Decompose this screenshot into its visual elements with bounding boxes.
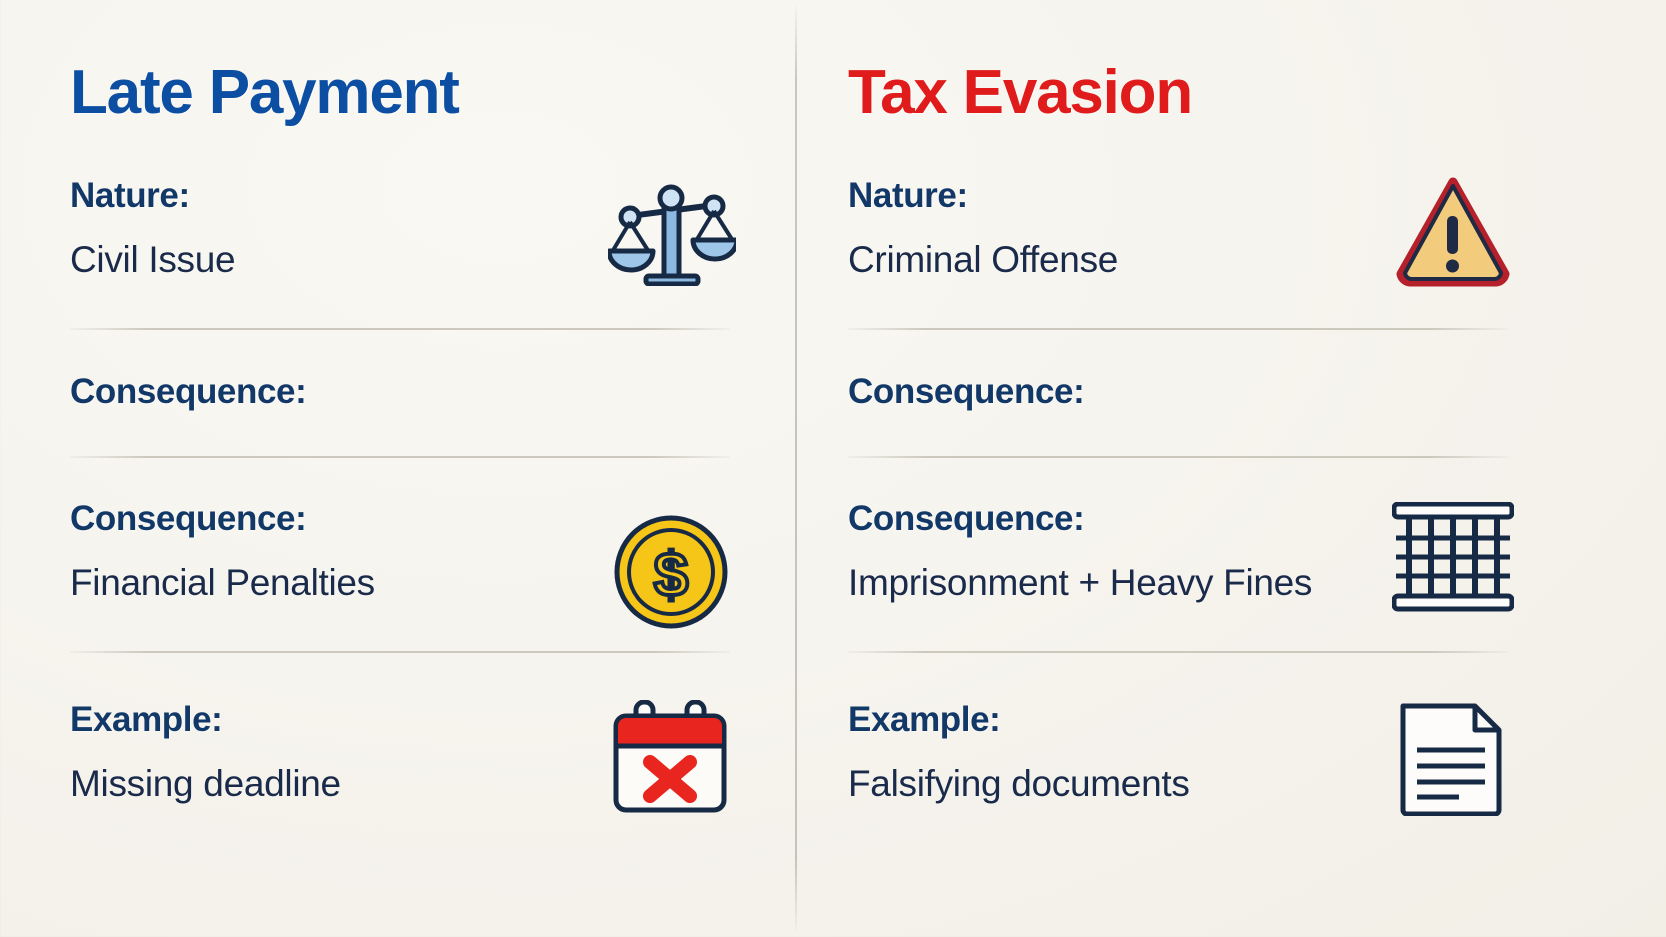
field-value-example-left: Missing deadline (70, 763, 341, 805)
field-value-consequence-right-2: Imprisonment + Heavy Fines (848, 562, 1312, 604)
field-value-nature-left: Civil Issue (70, 239, 235, 281)
row-divider-left-3 (70, 651, 730, 653)
field-label-consequence-left-1: Consequence: (70, 372, 306, 412)
field-label-example-left: Example: (70, 700, 222, 740)
row-divider-right-1 (848, 328, 1508, 330)
document-lines-icon (1397, 700, 1505, 816)
gold-coin-icon: $ (613, 514, 729, 630)
warning-triangle-icon (1395, 174, 1511, 288)
field-label-nature-left: Nature: (70, 176, 190, 216)
row-divider-right-3 (848, 651, 1508, 653)
field-label-consequence-right-1: Consequence: (848, 372, 1084, 412)
field-value-nature-right: Criminal Offense (848, 239, 1118, 281)
svg-text:$: $ (654, 541, 688, 610)
row-divider-left-2 (70, 456, 730, 458)
field-label-example-right: Example: (848, 700, 1000, 740)
field-label-nature-right: Nature: (848, 176, 968, 216)
field-label-consequence-right-2: Consequence: (848, 499, 1084, 539)
scales-icon (608, 178, 736, 286)
column-title-late-payment: Late Payment (70, 57, 459, 128)
field-label-consequence-left-2: Consequence: (70, 499, 306, 539)
infographic-canvas: Late Payment Nature: Civil Issue (0, 0, 1666, 937)
column-title-tax-evasion: Tax Evasion (848, 57, 1192, 128)
field-value-example-right: Falsifying documents (848, 763, 1190, 805)
row-divider-right-2 (848, 456, 1508, 458)
jail-bars-icon (1392, 502, 1514, 612)
row-divider-left-1 (70, 328, 730, 330)
calendar-x-icon (608, 700, 732, 814)
field-value-consequence-left-2: Financial Penalties (70, 562, 375, 604)
